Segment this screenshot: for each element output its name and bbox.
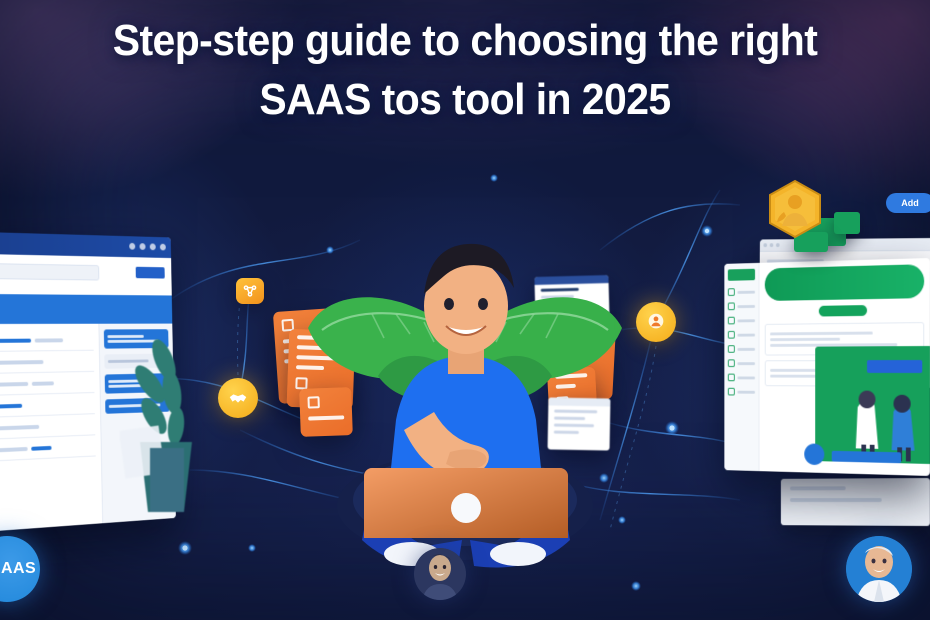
potted-plant-illustration bbox=[120, 330, 230, 520]
table-row[interactable] bbox=[0, 330, 94, 352]
left-panel-toolbar bbox=[0, 254, 172, 296]
primary-action-button[interactable] bbox=[136, 267, 165, 279]
table-row[interactable] bbox=[0, 372, 95, 396]
hero-banner-canvas: Add SAAS Step-step guide to c bbox=[0, 0, 930, 620]
sidebar-item[interactable] bbox=[728, 302, 755, 310]
person-avatar-icon bbox=[414, 548, 466, 600]
floating-action-button[interactable] bbox=[804, 443, 824, 465]
hero-banner bbox=[765, 264, 924, 301]
add-button[interactable]: Add bbox=[886, 193, 930, 213]
right-panel-content bbox=[759, 258, 930, 476]
badge-circle-person[interactable] bbox=[636, 302, 676, 342]
sidebar-item[interactable] bbox=[728, 374, 755, 382]
green-presentation-screen bbox=[815, 346, 930, 464]
badge-circle-handshake[interactable] bbox=[218, 378, 258, 418]
app-logo bbox=[728, 269, 755, 281]
saas-badge-label: SAAS bbox=[0, 560, 36, 578]
avatar[interactable] bbox=[414, 548, 466, 600]
right-dashboard-panel[interactable] bbox=[724, 258, 930, 476]
right-bottom-panel[interactable] bbox=[781, 478, 930, 526]
left-panel-titlebar-icons[interactable] bbox=[129, 243, 166, 251]
sidebar-item[interactable] bbox=[728, 359, 755, 367]
page-title: Step-step guide to choosing the right SA… bbox=[0, 14, 930, 127]
calendar-icon bbox=[728, 345, 735, 353]
sidebar-item[interactable] bbox=[728, 388, 755, 396]
status-badge bbox=[819, 305, 867, 316]
avatar[interactable] bbox=[846, 536, 912, 602]
cart-icon[interactable] bbox=[139, 243, 145, 250]
sidebar-item[interactable] bbox=[728, 345, 755, 353]
table-row[interactable] bbox=[0, 351, 94, 374]
badge-square-network[interactable] bbox=[236, 278, 264, 304]
left-panel-header-band bbox=[0, 294, 172, 324]
person-icon bbox=[645, 311, 667, 333]
settings-icon[interactable] bbox=[150, 243, 156, 250]
handshake-icon bbox=[227, 387, 249, 409]
dashboard-icon bbox=[728, 288, 735, 296]
floating-green-card[interactable] bbox=[834, 212, 860, 234]
left-panel-table bbox=[0, 324, 103, 532]
badge-hex-person[interactable] bbox=[764, 178, 826, 240]
gear-icon bbox=[728, 388, 735, 396]
chart-icon bbox=[728, 331, 735, 339]
table-row[interactable] bbox=[0, 435, 96, 461]
search-icon[interactable] bbox=[129, 243, 135, 250]
users-icon bbox=[728, 302, 735, 310]
person-avatar-icon bbox=[846, 536, 912, 602]
document-icon bbox=[728, 374, 735, 382]
search-input[interactable] bbox=[0, 263, 99, 280]
sidebar-item[interactable] bbox=[728, 288, 755, 296]
sidebar-item[interactable] bbox=[728, 331, 755, 339]
message-icon bbox=[728, 359, 735, 367]
user-icon[interactable] bbox=[160, 244, 166, 251]
man-with-laptop-illustration bbox=[300, 168, 630, 568]
network-icon bbox=[242, 283, 258, 299]
add-button-label: Add bbox=[901, 198, 919, 208]
title-line-1: Step-step guide to choosing the right bbox=[33, 14, 898, 68]
folder-icon bbox=[728, 317, 735, 325]
sidebar-item[interactable] bbox=[728, 316, 755, 324]
cta-button[interactable] bbox=[832, 451, 901, 463]
title-line-2: SAAS tos tool in 2025 bbox=[33, 73, 898, 127]
right-panel-sidebar[interactable] bbox=[724, 263, 759, 471]
